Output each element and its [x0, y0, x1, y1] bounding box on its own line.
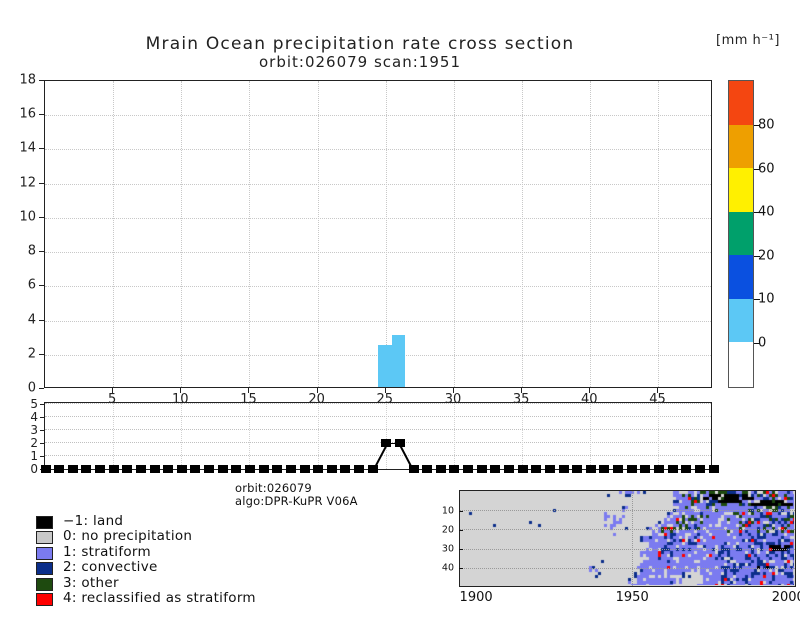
series-marker — [354, 465, 364, 473]
y-tick-mark — [39, 217, 44, 218]
main-chart-bars — [46, 82, 711, 387]
legend-label: 2: convective — [63, 560, 158, 575]
series-marker — [640, 465, 650, 473]
y-tick-mark — [459, 549, 463, 550]
series-marker — [286, 465, 296, 473]
y-tick-mark — [459, 568, 463, 569]
map-y-axis: 10203040 — [429, 492, 459, 586]
series-marker — [340, 465, 350, 473]
series-marker — [449, 465, 459, 473]
y-tick-mark — [459, 530, 463, 531]
x-tick-label: 1950 — [616, 590, 649, 605]
page-subtitle: orbit:026079 scan:1951 — [0, 53, 720, 71]
y-tick-mark — [39, 183, 44, 184]
y-tick-mark — [39, 148, 44, 149]
y-tick-label: 40 — [428, 563, 454, 574]
series-marker — [409, 465, 419, 473]
series-marker — [572, 465, 582, 473]
y-tick-label: 14 — [0, 141, 36, 156]
y-tick-label: 4 — [0, 410, 38, 424]
series-marker — [54, 465, 64, 473]
series-marker — [163, 465, 173, 473]
y-tick-label: 20 — [428, 524, 454, 535]
precip-bar — [378, 345, 392, 386]
gridline-horizontal — [460, 529, 795, 530]
series-marker — [395, 439, 405, 447]
series-marker — [245, 465, 255, 473]
series-marker — [463, 465, 473, 473]
x-tick-label: 1900 — [460, 590, 493, 605]
y-tick-label: 10 — [0, 209, 36, 224]
legend-label: 1: stratiform — [63, 545, 151, 560]
series-marker — [518, 465, 528, 473]
gridline-horizontal — [460, 510, 795, 511]
y-tick-label: 18 — [0, 73, 36, 88]
y-tick-label: 6 — [0, 278, 36, 293]
series-marker — [436, 465, 446, 473]
colorbar-ticks: 80604020100 — [728, 80, 798, 388]
y-tick-label: 12 — [0, 175, 36, 190]
colorbar-tick-label: 40 — [758, 205, 775, 220]
legend-swatch — [36, 578, 53, 591]
series-marker — [81, 465, 91, 473]
series-marker — [204, 465, 214, 473]
y-tick-mark — [40, 404, 44, 405]
legend-swatch — [36, 593, 53, 606]
y-tick-mark — [40, 456, 44, 457]
y-tick-label: 30 — [428, 544, 454, 555]
y-tick-mark — [39, 320, 44, 321]
x-tick-label: 2000 — [772, 590, 800, 605]
y-tick-label: 2 — [0, 346, 36, 361]
series-marker — [368, 465, 378, 473]
series-marker — [150, 465, 160, 473]
series-marker — [490, 465, 500, 473]
precip-bar — [392, 335, 406, 386]
series-marker — [313, 465, 323, 473]
series-marker — [231, 465, 241, 473]
series-marker — [695, 465, 705, 473]
series-marker — [709, 465, 719, 473]
gridline-horizontal — [460, 568, 795, 569]
map-x-axis: 190019502000 — [459, 587, 796, 609]
y-tick-mark — [459, 511, 463, 512]
series-marker — [95, 465, 105, 473]
legend-label: 3: other — [63, 576, 119, 591]
series-marker — [136, 465, 146, 473]
y-tick-label: 1 — [0, 449, 38, 463]
series-marker — [531, 465, 541, 473]
colorbar-tick-label: 0 — [758, 335, 766, 350]
series-marker — [654, 465, 664, 473]
scan-classification-map — [459, 490, 796, 587]
series-marker — [218, 465, 228, 473]
series-marker — [599, 465, 609, 473]
main-chart-y-axis: 024681012141618 — [0, 80, 44, 388]
series-marker — [586, 465, 596, 473]
map-raster — [460, 491, 794, 585]
series-marker — [627, 465, 637, 473]
series-marker — [300, 465, 310, 473]
y-tick-mark — [39, 251, 44, 252]
series-marker — [681, 465, 691, 473]
legend-swatch — [36, 547, 53, 560]
y-tick-label: 16 — [0, 107, 36, 122]
series-marker — [559, 465, 569, 473]
legend-swatch — [36, 531, 53, 544]
y-tick-label: 10 — [428, 505, 454, 516]
y-tick-mark — [39, 354, 44, 355]
gridline-vertical — [632, 491, 633, 586]
series-marker — [668, 465, 678, 473]
series-marker — [122, 465, 132, 473]
legend-swatch — [36, 516, 53, 529]
y-tick-mark — [40, 417, 44, 418]
y-tick-mark — [40, 430, 44, 431]
legend-label: 4: reclassified as stratiform — [63, 591, 256, 606]
y-tick-label: 0 — [0, 462, 38, 476]
series-marker — [327, 465, 337, 473]
y-tick-mark — [40, 443, 44, 444]
precip-type-series — [46, 404, 711, 469]
series-marker — [68, 465, 78, 473]
series-marker — [41, 465, 51, 473]
y-tick-label: 0 — [0, 381, 36, 396]
precip-type-y-axis: 012345 — [2, 404, 44, 469]
series-marker — [504, 465, 514, 473]
y-tick-label: 3 — [0, 423, 38, 437]
y-tick-mark — [39, 80, 44, 81]
colorbar-tick-label: 20 — [758, 248, 775, 263]
colorbar-tick-label: 60 — [758, 161, 775, 176]
series-marker — [477, 465, 487, 473]
page-title: Mrain Ocean precipitation rate cross sec… — [0, 34, 720, 54]
series-marker — [272, 465, 282, 473]
info-block: orbit:026079 algo:DPR-KuPR V06A — [235, 482, 358, 508]
y-tick-label: 5 — [0, 397, 38, 411]
y-tick-label: 2 — [0, 436, 38, 450]
colorbar-unit-label: [mm h⁻¹] — [716, 33, 780, 48]
y-tick-label: 8 — [0, 244, 36, 259]
legend-swatch — [36, 562, 53, 575]
colorbar-tick-label: 10 — [758, 292, 775, 307]
series-marker — [177, 465, 187, 473]
info-algo: algo:DPR-KuPR V06A — [235, 495, 358, 508]
series-marker — [109, 465, 119, 473]
gridline-horizontal — [460, 549, 795, 550]
y-tick-mark — [39, 285, 44, 286]
legend-label: −1: land — [63, 514, 123, 529]
y-tick-label: 4 — [0, 312, 36, 327]
series-marker — [613, 465, 623, 473]
series-marker — [259, 465, 269, 473]
colorbar-tick-label: 80 — [758, 118, 775, 133]
y-tick-mark — [39, 114, 44, 115]
series-marker — [381, 439, 391, 447]
series-marker — [545, 465, 555, 473]
series-marker — [422, 465, 432, 473]
legend-label: 0: no precipitation — [63, 529, 192, 544]
series-marker — [190, 465, 200, 473]
